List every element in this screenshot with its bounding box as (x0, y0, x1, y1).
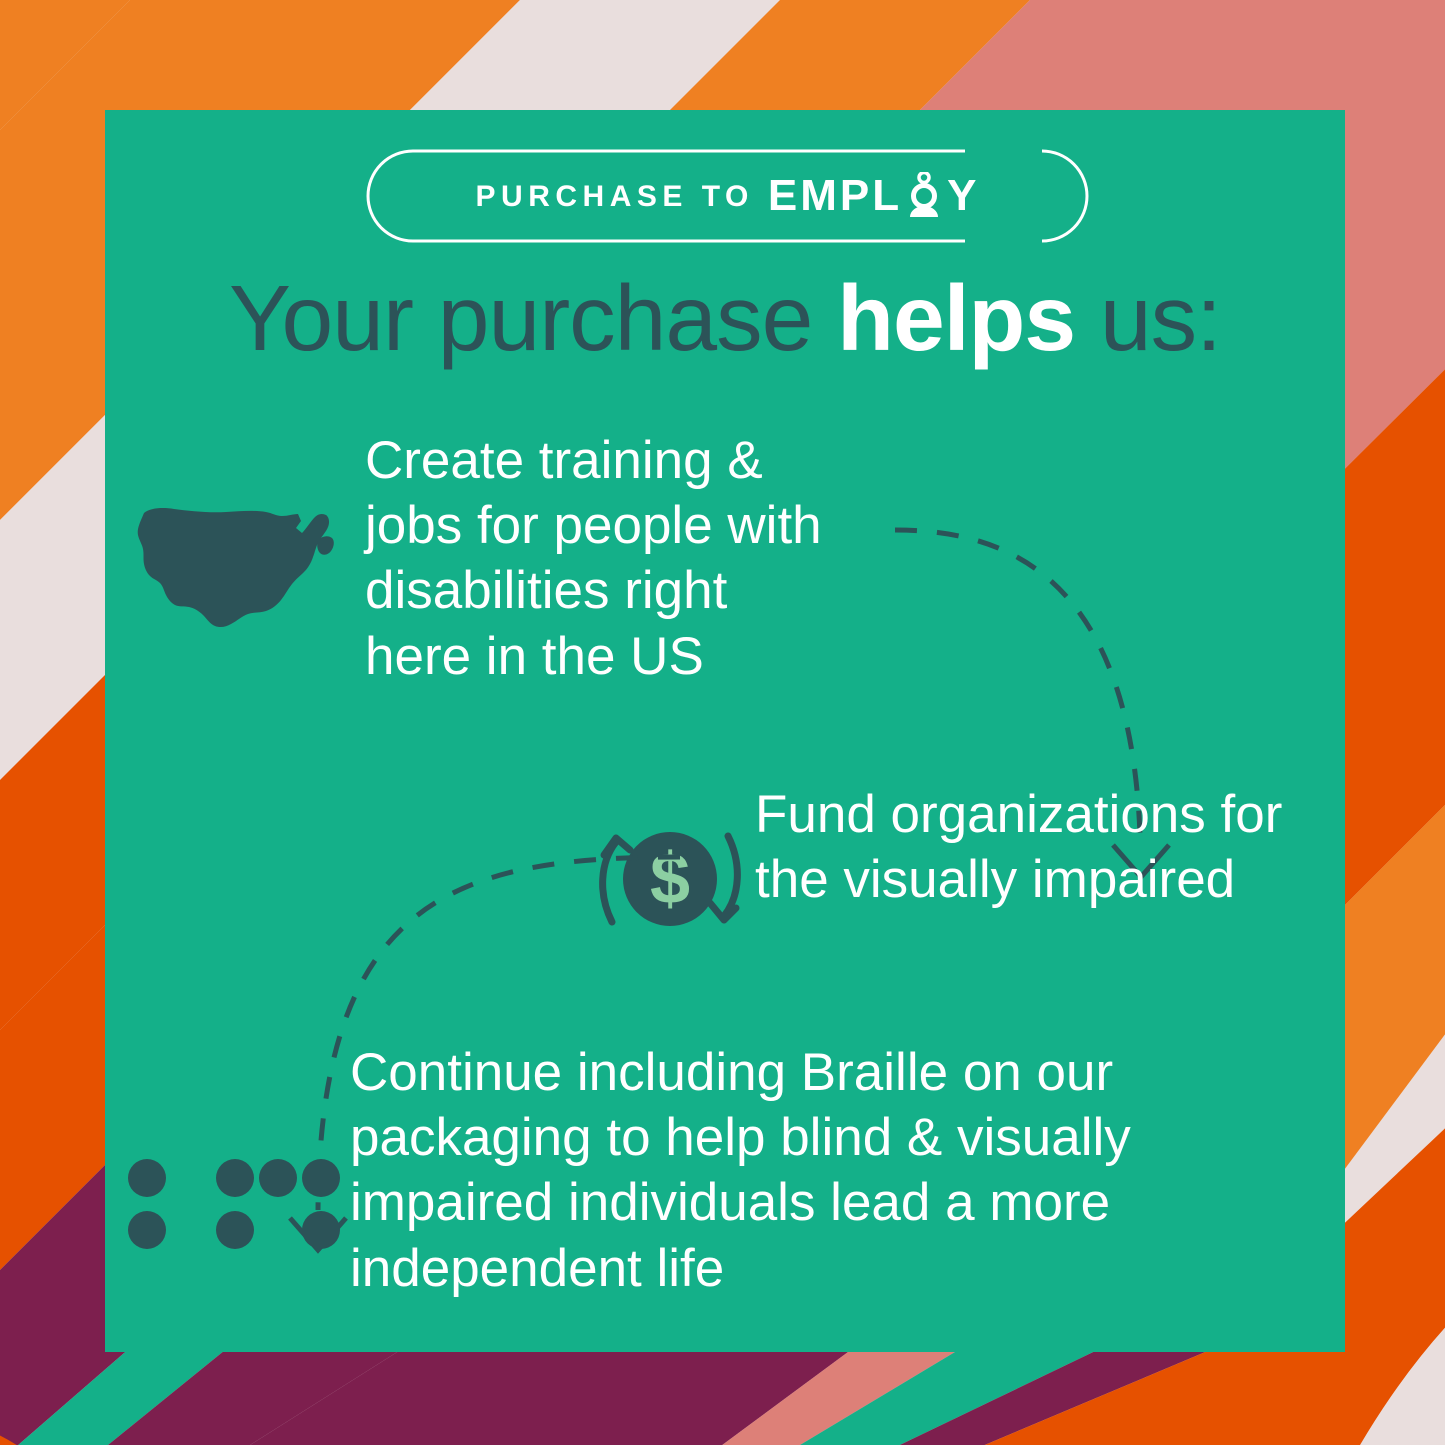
green-content-card: PURCHASE TO EMPL Y Your purchase helps u… (105, 110, 1345, 1352)
item-1-line-1: Create training & (365, 428, 885, 493)
item-3-line-1: Continue including Braille on our (350, 1040, 1170, 1105)
us-map-icon (130, 495, 345, 640)
item-1-line-2: jobs for people with (365, 493, 885, 558)
badge-employ-a: EMPL (768, 174, 902, 218)
badge-text-row: PURCHASE TO EMPL Y (365, 148, 1090, 244)
page-title: Your purchase helps us: (105, 272, 1345, 365)
item-3-text: Continue including Braille on our packag… (350, 1040, 1170, 1301)
poster-canvas: PURCHASE TO EMPL Y Your purchase helps u… (0, 0, 1445, 1445)
headline-emphasis: helps (837, 266, 1075, 370)
item-3-line-3: impaired individuals lead a more (350, 1170, 1170, 1235)
badge-lead-text: PURCHASE TO (476, 182, 754, 212)
item-2-text: Fund organizations for the visually impa… (755, 782, 1335, 912)
purchase-to-employ-badge: PURCHASE TO EMPL Y (365, 148, 1090, 244)
headline-after: us: (1075, 266, 1221, 370)
braille-dots-icon (115, 1150, 345, 1265)
item-3-line-2: packaging to help blind & visually (350, 1105, 1170, 1170)
person-icon-o (903, 172, 945, 218)
item-1-line-3: disabilities right (365, 558, 885, 623)
item-1-line-4: here in the US (365, 624, 885, 689)
item-2-line-1: Fund organizations for (755, 782, 1335, 847)
badge-employ-b: Y (947, 174, 979, 218)
headline-before: Your purchase (229, 266, 837, 370)
item-1-text: Create training & jobs for people with d… (365, 428, 885, 689)
item-3-line-4: independent life (350, 1236, 1170, 1301)
item-2-line-2: the visually impaired (755, 847, 1335, 912)
